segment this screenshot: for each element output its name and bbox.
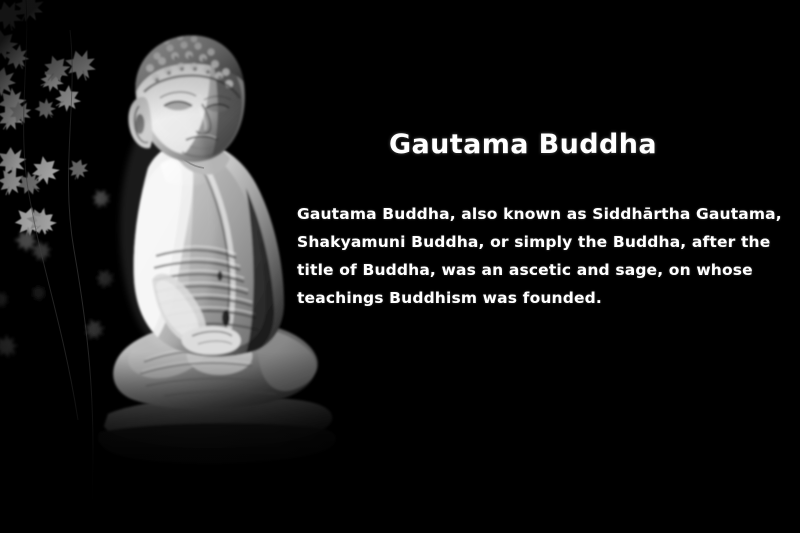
description-paragraph: Gautama Buddha, also known as Siddhārtha… — [297, 200, 767, 312]
page-title: Gautama Buddha — [297, 128, 767, 162]
description-line: Gautama Buddha, also known as Siddhārtha… — [297, 200, 767, 228]
description-line: Shakyamuni Buddha, or simply the Buddha,… — [297, 228, 767, 256]
description-line: teachings Buddhism was founded. — [297, 284, 767, 312]
buddha-poster: Gautama Buddha Gautama Buddha, also know… — [0, 0, 800, 533]
description-line: title of Buddha, was an ascetic and sage… — [297, 256, 767, 284]
caption-block: Gautama Buddha Gautama Buddha, also know… — [297, 128, 767, 312]
